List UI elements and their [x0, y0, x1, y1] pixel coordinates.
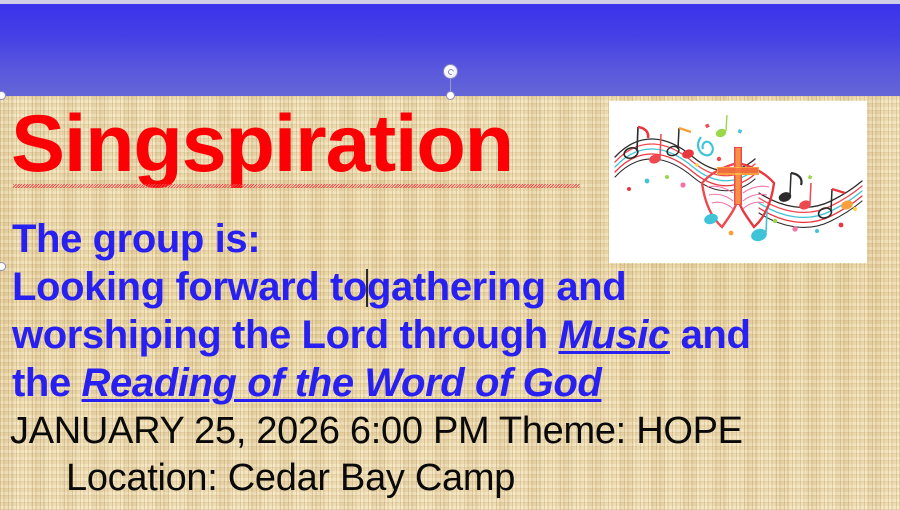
body-line-3-emphasis: Music: [559, 313, 670, 357]
body-line-3-pre: worshiping the Lord through: [12, 313, 559, 357]
slide-title[interactable]: Singspiration: [11, 98, 513, 190]
body-line-2-post: gathering and: [367, 265, 626, 309]
event-date-time-theme[interactable]: JANUARY 25, 2026 6:00 PM Theme: HOPE: [10, 409, 743, 453]
body-line-3: worshiping the Lord through Music and: [12, 311, 812, 359]
body-line-2: Looking forward togathering and: [12, 263, 812, 311]
spellcheck-squiggle-underline: [13, 184, 580, 188]
slide-canvas[interactable]: Singspiration The group is: Looking forw…: [0, 0, 900, 510]
body-line-2-pre: Looking forward to: [12, 265, 367, 309]
body-line-4-pre: the: [12, 361, 82, 405]
body-line-3-post: and: [670, 313, 751, 357]
music-bible-clipart-image[interactable]: [609, 101, 867, 263]
body-line-4: the Reading of the Word of God: [12, 359, 812, 407]
rotation-handle-icon[interactable]: [443, 64, 458, 79]
body-line-1-text: The group is:: [12, 217, 260, 261]
event-location[interactable]: Location: Cedar Bay Camp: [66, 456, 515, 500]
body-line-4-emphasis: Reading of the Word of God: [82, 361, 602, 405]
